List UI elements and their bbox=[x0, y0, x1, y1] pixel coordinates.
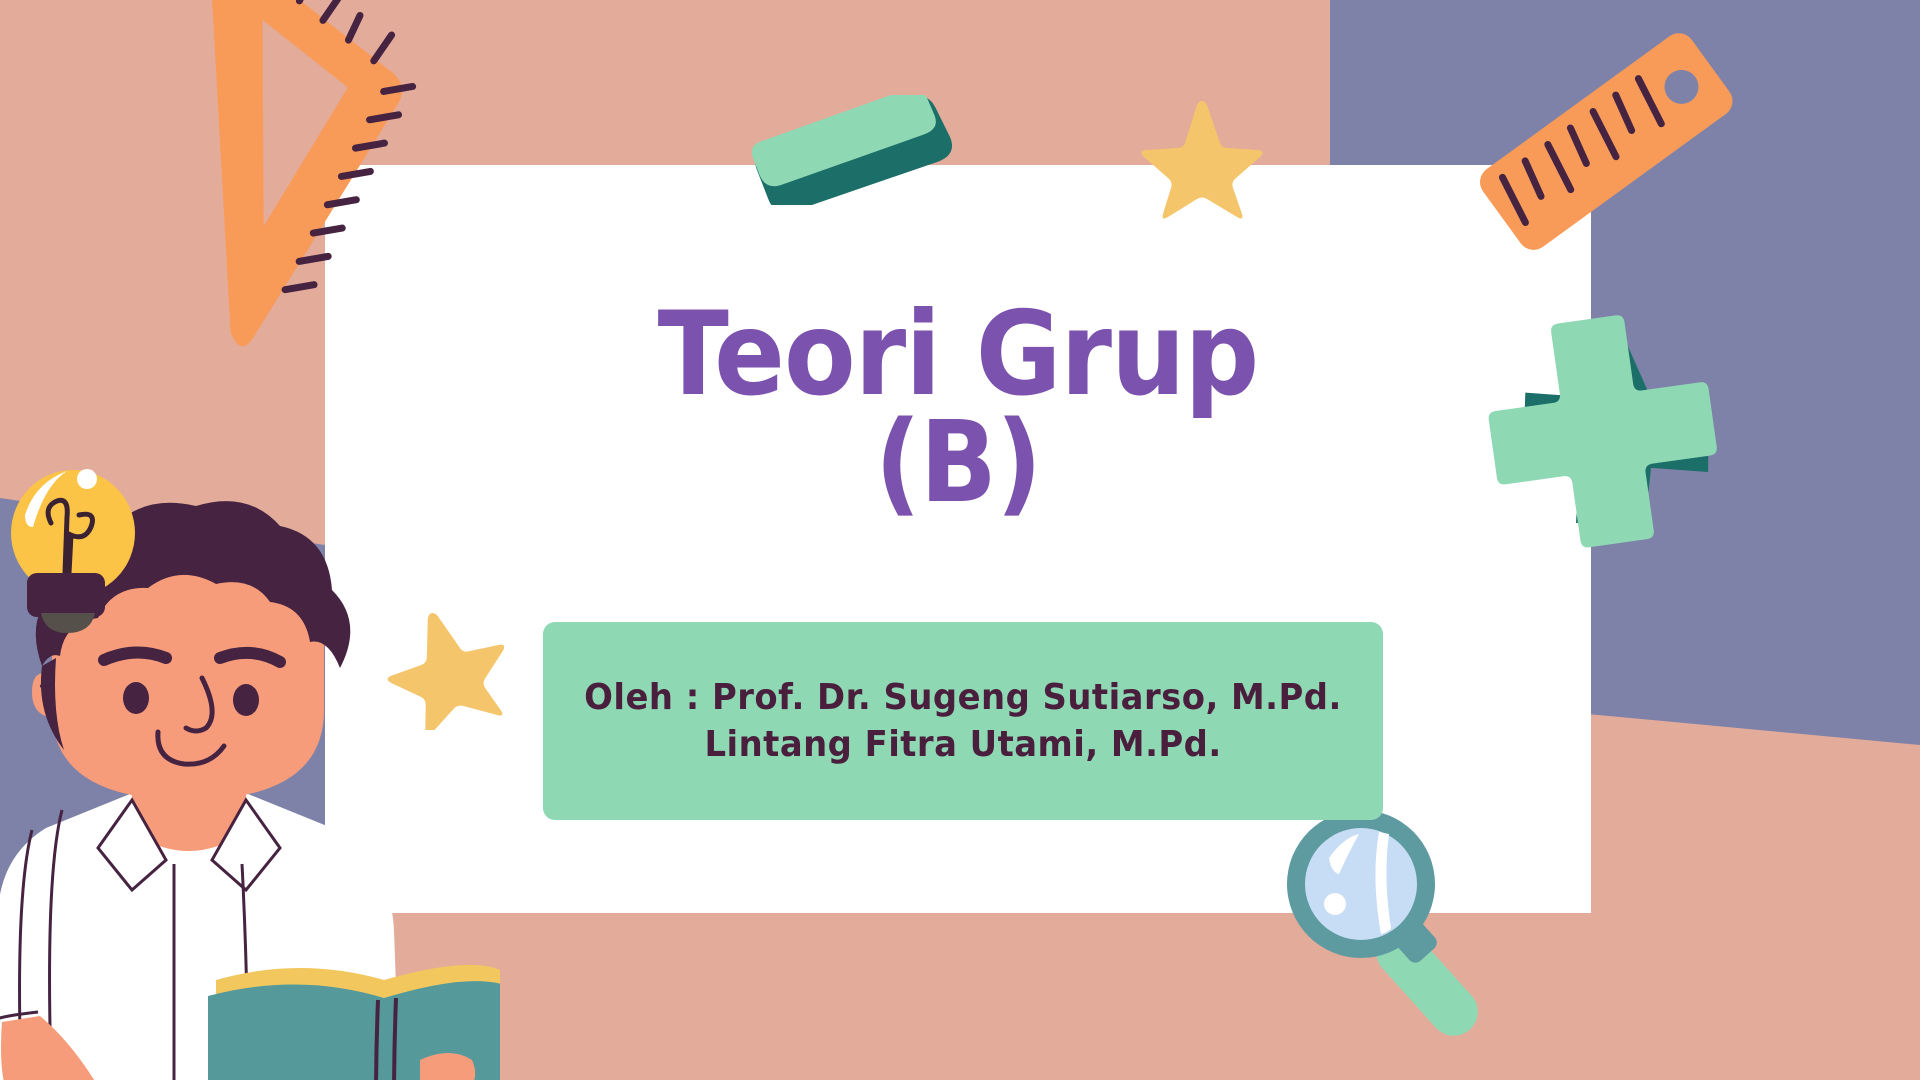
magnifying-glass-icon bbox=[1275, 800, 1485, 1080]
presentation-slide: Teori Grup (B) Oleh : Prof. Dr. Sugeng S… bbox=[0, 0, 1920, 1080]
eraser-icon bbox=[745, 95, 960, 205]
author-credit-box: Oleh : Prof. Dr. Sugeng Sutiarso, M.Pd. … bbox=[543, 622, 1383, 820]
plus-sign-icon bbox=[1480, 310, 1730, 560]
author-line-2: Lintang Fitra Utami, M.Pd. bbox=[704, 724, 1221, 765]
light-bulb-icon bbox=[5, 455, 145, 640]
author-line-1: Oleh : Prof. Dr. Sugeng Sutiarso, M.Pd. bbox=[584, 677, 1342, 718]
straight-ruler-icon bbox=[1480, 30, 1740, 260]
star-icon-top bbox=[1140, 95, 1265, 220]
triangle-ruler-icon bbox=[150, 0, 470, 370]
